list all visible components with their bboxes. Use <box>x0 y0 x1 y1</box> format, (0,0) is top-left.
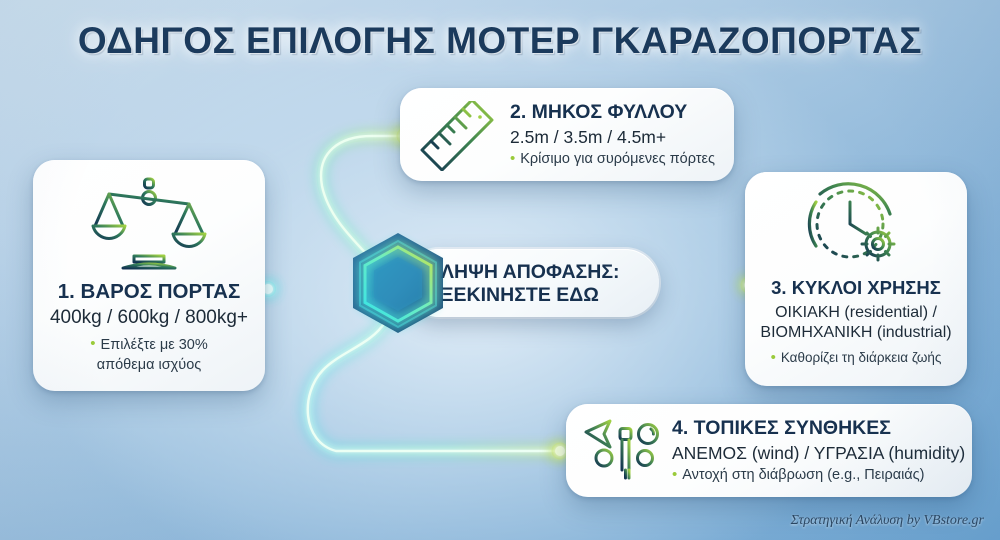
anemometer-icon <box>580 416 666 493</box>
clock-gear-icon <box>745 180 967 281</box>
card1-bullet-line1: Επιλέξτε με 30% <box>101 336 208 356</box>
decision-hub[interactable]: ΛΗΨΗ ΑΠΟΦΑΣΗΣ: ΞΕΚΙΝΗΣΤΕ ΕΔΩ <box>345 249 659 317</box>
card1-subtitle: 400kg / 600kg / 800kg+ <box>33 307 265 329</box>
card4-bullet: • Αντοχή στη διάβρωση (e.g., Πειραιάς) <box>672 467 925 483</box>
card2-title: 2. ΜΗΚΟΣ ΦΥΛΛΟΥ <box>510 101 687 124</box>
ruler-icon <box>414 101 500 176</box>
card1-bullet-line2: απόθεμα ισχύος <box>33 356 265 376</box>
wire-hub-to-card3 <box>660 277 758 294</box>
card3-title: 3. ΚΥΚΛΟΙ ΧΡΗΣΗΣ <box>745 277 967 299</box>
card-door-weight[interactable]: 1. ΒΑΡΟΣ ΠΟΡΤΑΣ 400kg / 600kg / 800kg+ •… <box>33 160 265 391</box>
card4-subtitle: ΑΝΕΜΟΣ (wind) / ΥΓΡΑΣΙΑ (humidity) <box>672 443 965 464</box>
card1-bullet: • Επιλέξτε με 30% απόθεμα ισχύος <box>33 336 265 375</box>
card2-bullet: • Κρίσιμο για συρόμενες πόρτες <box>510 151 715 167</box>
card4-title: 4. ΤΟΠΙΚΕΣ ΣΥΝΘΗΚΕΣ <box>672 417 891 440</box>
bullet-marker-icon: • <box>90 336 95 352</box>
card3-bullet: • Καθορίζει τη διάρκεια ζωής <box>745 350 967 366</box>
card-usage-cycles[interactable]: 3. ΚΥΚΛΟΙ ΧΡΗΣΗΣ ΟΙΚΙΑΚΗ (residential) /… <box>745 172 967 386</box>
card3-subtitle: ΟΙΚΙΑΚΗ (residential) / ΒΙΟΜΗΧΑΝΙΚΗ (ind… <box>745 303 967 344</box>
card4-bullet-line1: Αντοχή στη διάβρωση (e.g., Πειραιάς) <box>682 467 924 483</box>
card-local-conditions[interactable]: 4. ΤΟΠΙΚΕΣ ΣΥΝΘΗΚΕΣ ΑΝΕΜΟΣ (wind) / ΥΓΡΑ… <box>566 404 972 497</box>
hexagon-icon <box>342 227 454 339</box>
card-leaf-length[interactable]: 2. ΜΗΚΟΣ ΦΥΛΛΟΥ 2.5m / 3.5m / 4.5m+ • Κρ… <box>400 88 734 181</box>
card3-bullet-line1: Καθορίζει τη διάρκεια ζωής <box>781 350 942 365</box>
bullet-marker-icon: • <box>510 151 515 167</box>
page-title: ΟΔΗΓΟΣ ΕΠΙΛΟΓΗΣ ΜΟΤΕΡ ΓΚΑΡΑΖΟΠΟΡΤΑΣ <box>0 20 1000 62</box>
card3-subtitle-line1: ΟΙΚΙΑΚΗ (residential) / <box>745 303 967 323</box>
wire-hub-to-card4 <box>308 322 569 460</box>
decision-hub-line1: ΛΗΨΗ ΑΠΟΦΑΣΗΣ: <box>441 261 641 284</box>
card1-title: 1. ΒΑΡΟΣ ΠΟΡΤΑΣ <box>33 280 265 304</box>
card3-subtitle-line2: ΒΙΟΜΗΧΑΝΙΚΗ (industrial) <box>745 323 967 343</box>
balance-scale-icon <box>33 174 265 279</box>
decision-hub-line2: ΞΕΚΙΝΗΣΤΕ ΕΔΩ <box>441 284 641 307</box>
card2-bullet-line1: Κρίσιμο για συρόμενες πόρτες <box>520 151 715 167</box>
bullet-marker-icon: • <box>771 350 776 366</box>
card2-subtitle: 2.5m / 3.5m / 4.5m+ <box>510 127 666 148</box>
footer-credit: Στρατηγική Ανάλυση by VBstore.gr <box>791 513 984 529</box>
infographic-canvas: ΟΔΗΓΟΣ ΕΠΙΛΟΓΗΣ ΜΟΤΕΡ ΓΚΑΡΑΖΟΠΟΡΤΑΣ <box>0 0 1000 540</box>
bullet-marker-icon: • <box>672 467 677 483</box>
decision-hub-label: ΛΗΨΗ ΑΠΟΦΑΣΗΣ: ΞΕΚΙΝΗΣΤΕ ΕΔΩ <box>441 261 641 307</box>
